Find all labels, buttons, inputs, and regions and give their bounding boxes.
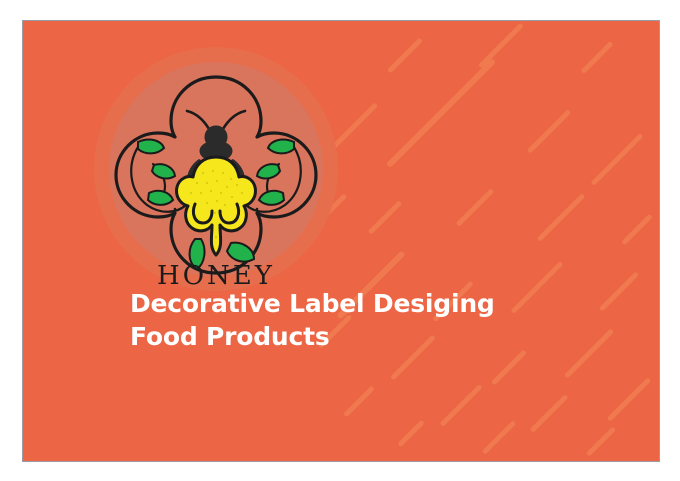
slide-canvas: HONEY Decorative Label Desiging Food Pro…	[22, 20, 660, 462]
diagonal-stripe	[537, 193, 586, 242]
diagonal-stripe	[439, 383, 482, 426]
diagonal-stripe	[491, 349, 527, 385]
diagonal-stripe	[368, 200, 403, 235]
honey-wordmark: HONEY	[91, 263, 341, 289]
diagonal-stripe	[564, 328, 614, 378]
diagonal-stripe	[530, 394, 569, 433]
diagonal-stripe	[586, 426, 616, 456]
title-line-1: Decorative Label Desiging	[130, 287, 550, 320]
diagonal-stripe	[607, 377, 652, 422]
diagonal-stripe	[580, 40, 613, 73]
bee-body	[177, 157, 256, 255]
leaves-left	[138, 140, 175, 205]
diagonal-stripe	[590, 132, 643, 185]
diagonal-stripe	[478, 22, 524, 68]
title-line-2: Food Products	[130, 320, 550, 353]
diagonal-stripe	[456, 188, 495, 227]
diagonal-stripe	[621, 213, 653, 245]
diagonal-stripe	[397, 419, 425, 447]
diagonal-stripe	[482, 420, 517, 455]
leaves-right	[257, 140, 294, 205]
slide-title: Decorative Label Desiging Food Products	[130, 287, 550, 353]
diagonal-stripe	[387, 37, 423, 73]
diagonal-stripe	[343, 385, 375, 417]
diagonal-stripe	[386, 58, 496, 168]
diagonal-stripe	[527, 109, 572, 154]
diagonal-stripe	[599, 271, 639, 311]
honey-logo-emblem: HONEY	[91, 41, 341, 301]
